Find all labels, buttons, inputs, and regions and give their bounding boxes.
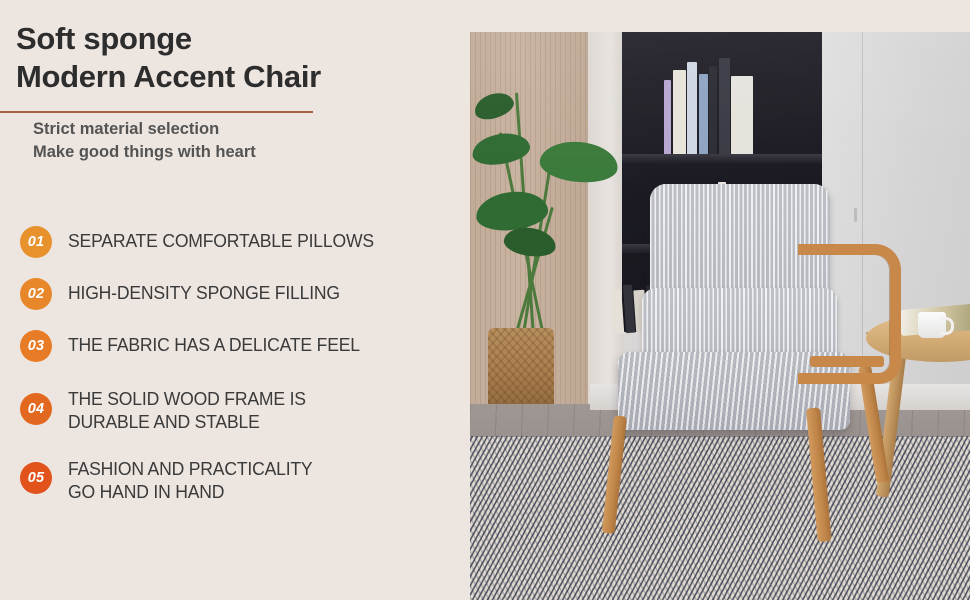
feature-number-badge: 03 — [20, 330, 52, 362]
subtitle: Strict material selection Make good thin… — [33, 118, 453, 165]
headline-line-1: Soft sponge — [16, 21, 192, 56]
subtitle-line-2: Make good things with heart — [33, 141, 453, 164]
title-divider — [0, 111, 313, 113]
feature-label: THE FABRIC HAS A DELICATE FEEL — [68, 330, 360, 356]
list-item: 03 THE FABRIC HAS A DELICATE FEEL — [20, 330, 460, 364]
feature-label: THE SOLID WOOD FRAME IS DURABLE AND STAB… — [68, 384, 306, 434]
book-group — [664, 32, 755, 154]
list-item: 01 SEPARATE COMFORTABLE PILLOWS — [20, 226, 460, 260]
book — [731, 76, 753, 154]
product-banner: Soft sponge Modern Accent Chair Strict m… — [0, 0, 970, 600]
accent-chair — [566, 184, 866, 600]
headline-line-2: Modern Accent Chair — [16, 58, 446, 96]
chair-arm-front-rail — [810, 356, 884, 367]
book — [699, 74, 708, 154]
feature-list: 01 SEPARATE COMFORTABLE PILLOWS 02 HIGH-… — [20, 226, 460, 503]
book — [709, 66, 717, 154]
feature-number-badge: 01 — [20, 226, 52, 258]
subtitle-line-1: Strict material selection — [33, 118, 453, 141]
product-photo — [470, 32, 970, 600]
feature-label: FASHION AND PRACTICALITY GO HAND IN HAND — [68, 454, 312, 504]
list-item: 02 HIGH-DENSITY SPONGE FILLING — [20, 278, 460, 312]
room-scene — [470, 32, 970, 600]
book — [673, 70, 686, 154]
feature-label: HIGH-DENSITY SPONGE FILLING — [68, 278, 340, 304]
feature-number-badge: 04 — [20, 393, 52, 425]
feature-number-badge: 02 — [20, 278, 52, 310]
book — [687, 62, 697, 154]
book — [664, 80, 671, 154]
text-panel: Soft sponge Modern Accent Chair Strict m… — [0, 0, 470, 600]
feature-label: SEPARATE COMFORTABLE PILLOWS — [68, 226, 374, 252]
coffee-mug — [918, 312, 946, 338]
list-item: 04 THE SOLID WOOD FRAME IS DURABLE AND S… — [20, 384, 460, 434]
feature-number-badge: 05 — [20, 462, 52, 494]
chair-leg-front-left — [602, 415, 627, 534]
page-title: Soft sponge Modern Accent Chair — [16, 20, 446, 96]
book — [719, 58, 730, 154]
list-item: 05 FASHION AND PRACTICALITY GO HAND IN H… — [20, 454, 460, 504]
